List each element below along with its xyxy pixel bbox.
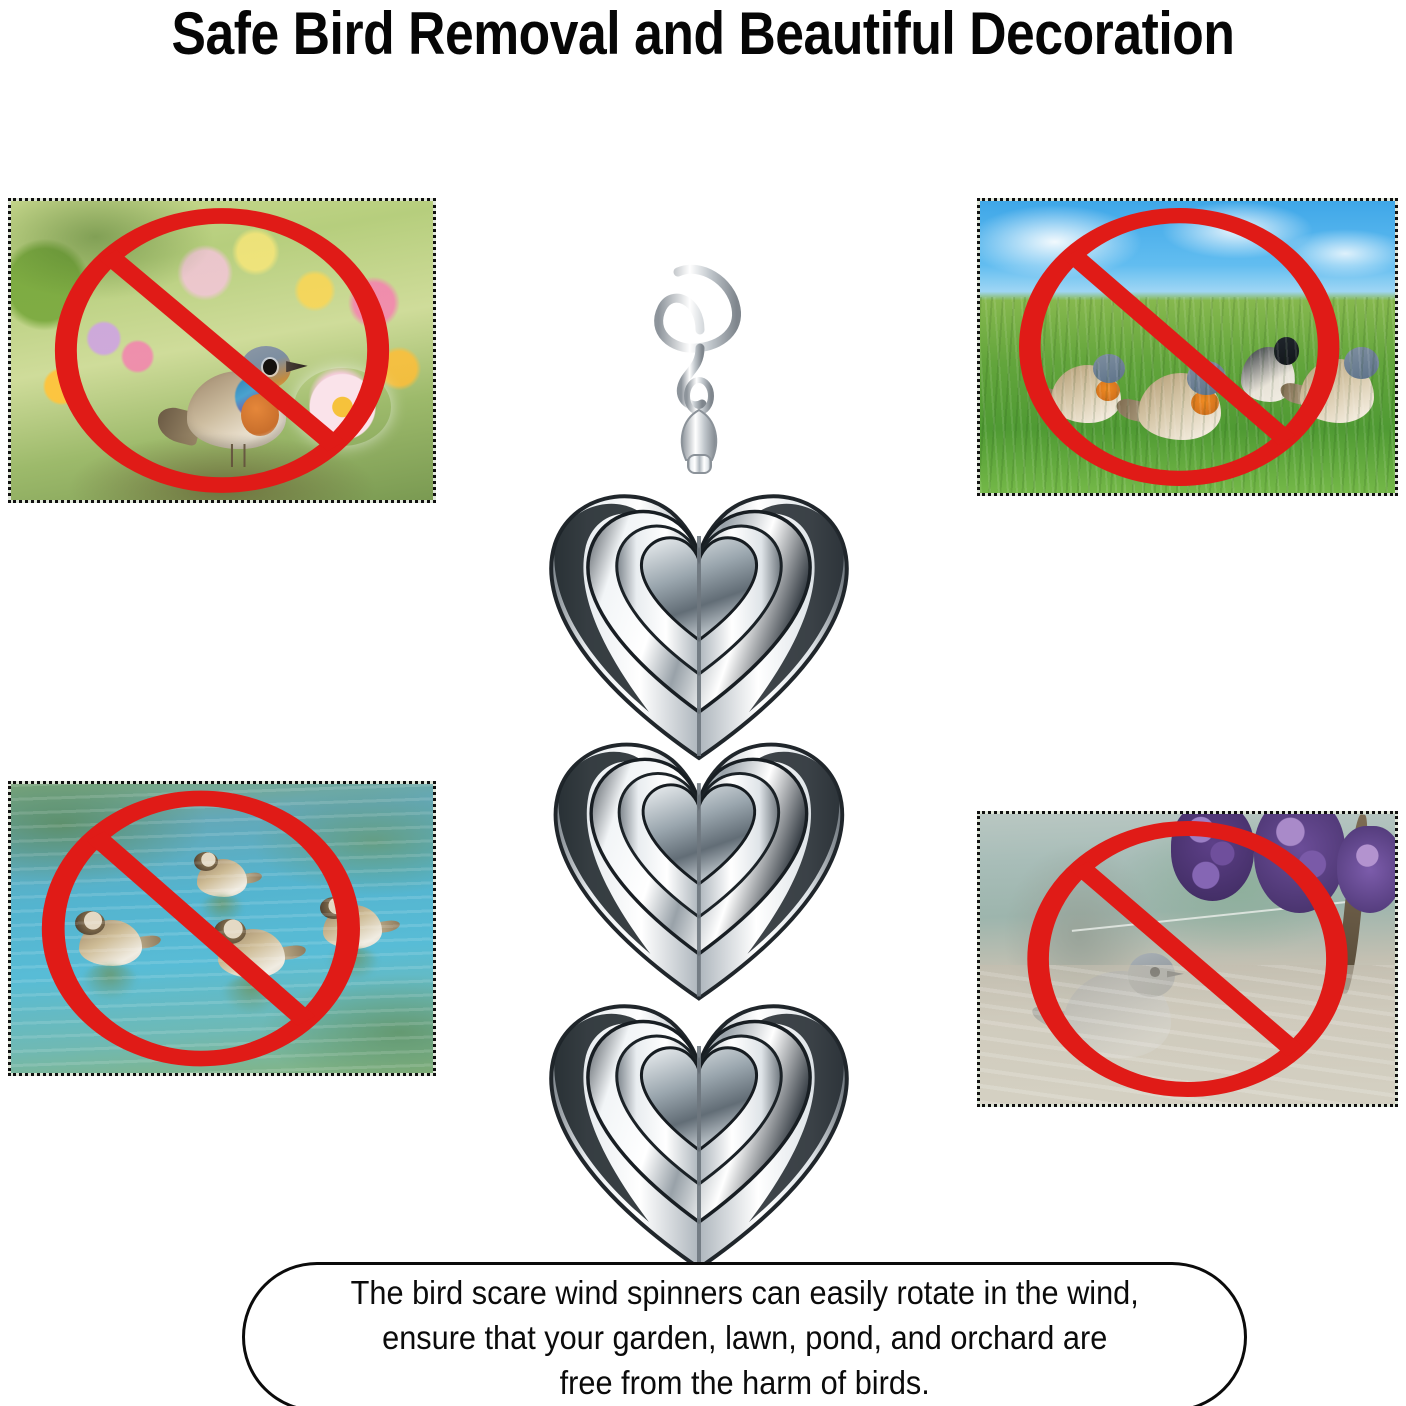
orchard-scene (980, 814, 1395, 1104)
bird-tail (275, 944, 306, 961)
bird-tail (1031, 385, 1062, 408)
bird-breast (241, 394, 279, 437)
bird-sparrow-2 (197, 859, 248, 897)
bird-head (1128, 953, 1175, 997)
water-reflection (82, 964, 138, 1000)
bottom-bead (691, 1196, 707, 1212)
bird-lawn-3 (1241, 347, 1295, 402)
product-feature-image: Safe Bird Removal and Beautiful Decorati… (0, 0, 1406, 1406)
bird-body (79, 920, 142, 966)
water-reflection (327, 947, 379, 981)
bird-head (1344, 347, 1378, 379)
bird-lawn-2 (1138, 373, 1221, 440)
caption-box: The bird scare wind spinners can easily … (242, 1262, 1247, 1406)
bird-body (1063, 971, 1171, 1058)
bird-throat (235, 376, 273, 419)
bird-sparrow-1 (79, 920, 142, 966)
s-hook-icon (659, 269, 737, 406)
caption-line-2: ensure that your garden, lawn, pond, and… (382, 1319, 1107, 1356)
bird-head (194, 852, 218, 872)
grape-cluster (1337, 826, 1398, 913)
garden-scene (11, 201, 433, 500)
bird-head (1187, 361, 1225, 395)
caption-line-1: The bird scare wind spinners can easily … (350, 1274, 1138, 1311)
heart-spinner-3 (551, 1006, 847, 1268)
connector-ring (687, 380, 711, 412)
lawn-scene (980, 201, 1395, 493)
heart-spinner-2 (556, 745, 843, 999)
bird-body (1241, 347, 1295, 402)
swivel-clasp-icon (682, 410, 716, 473)
bird-tail (373, 919, 400, 934)
bird-head (241, 346, 292, 389)
pond-scene (11, 784, 433, 1073)
caption-text: The bird scare wind spinners can easily … (350, 1270, 1138, 1405)
bird-tail (1029, 1003, 1080, 1034)
bird-body (1138, 373, 1221, 440)
bird-body (187, 371, 286, 449)
page-title: Safe Bird Removal and Beautiful Decorati… (98, 2, 1307, 66)
bird-grey (1063, 971, 1171, 1058)
bird-eye (263, 359, 277, 375)
bird-body (218, 929, 286, 978)
caption-line-3: free from the harm of birds. (559, 1364, 929, 1401)
bird-lawn-4 (1300, 359, 1375, 423)
bird-body (197, 859, 248, 897)
bird-body (1300, 359, 1375, 423)
bird-head (75, 911, 105, 935)
bird-sparrow-3 (218, 929, 286, 978)
bird-body (1051, 365, 1122, 423)
water-reflection (200, 895, 245, 924)
grape-cluster (1171, 811, 1254, 901)
bird-tail (1114, 397, 1151, 424)
bird-beak (1167, 971, 1184, 978)
bird-sparrow-4 (323, 905, 382, 948)
bird-tail (1278, 381, 1311, 406)
grape-cluster (1254, 811, 1345, 913)
bird-breast (1191, 391, 1219, 415)
bird-head (1274, 337, 1299, 365)
bird-beak (286, 361, 308, 372)
photo-panel-pond (8, 781, 436, 1076)
flower-bloom (294, 368, 391, 446)
bird-eye (1150, 967, 1160, 977)
bird-body (323, 905, 382, 948)
photo-panel-orchard (977, 811, 1398, 1107)
bird-robin (180, 339, 307, 465)
photo-panel-lawn (977, 198, 1398, 496)
bird-tail (240, 871, 263, 884)
bird-head (214, 919, 246, 945)
bird-tail (132, 935, 161, 951)
bird-legs (223, 444, 258, 467)
bird-tail (154, 404, 204, 446)
bird-head (320, 897, 348, 920)
bird-lawn-1 (1051, 365, 1122, 423)
photo-panel-garden (8, 198, 436, 503)
water-reflection (222, 976, 281, 1014)
bird-head (1093, 354, 1125, 383)
heart-spinner-1 (551, 496, 847, 758)
bird-breast (1096, 380, 1120, 401)
